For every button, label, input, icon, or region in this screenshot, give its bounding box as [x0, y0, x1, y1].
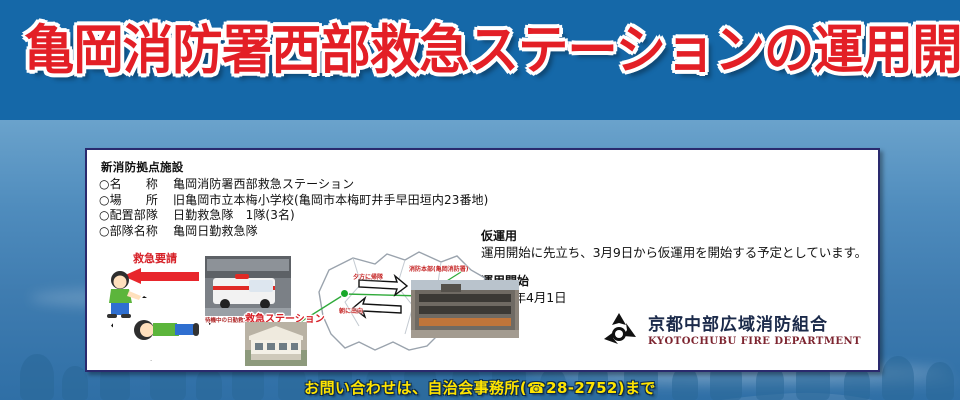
- facility-row-label: ○名 称: [99, 177, 173, 193]
- contact-banner: お問い合わせは、自治会事務所(☎28-2752)まで: [0, 374, 960, 400]
- facility-row: ○場 所旧亀岡市立本梅小学校(亀岡市本梅町井手早田垣内23番地): [99, 193, 488, 209]
- ambulance-photo: [205, 256, 291, 316]
- map-evening-label: 夕方に帰隊: [353, 272, 383, 281]
- poster-stage: 亀岡消防署西部救急ステーションの運用開始 新消防拠点施設 ○名 称亀岡消防署西部…: [0, 0, 960, 400]
- facility-info-block: 新消防拠点施設 ○名 称亀岡消防署西部救急ステーション ○場 所旧亀岡市立本梅小…: [99, 159, 488, 239]
- logo-text: 京都中部広域消防組合 KYOTOCHUBU FIRE DEPARTMENT: [648, 315, 861, 348]
- fire-department-emblem-icon: [599, 311, 639, 351]
- header-band: 亀岡消防署西部救急ステーションの運用開始: [0, 0, 960, 120]
- map-headquarters-label: 消防本部(亀岡消防署): [409, 264, 469, 273]
- emergency-request-label: 救急要請: [133, 250, 177, 266]
- provisional-heading: 仮運用: [481, 228, 873, 244]
- facility-row-value: 日勤救急隊 1隊(3名): [173, 208, 295, 222]
- map-marker-station: [341, 290, 348, 297]
- page-title: 亀岡消防署西部救急ステーションの運用開始: [24, 24, 936, 77]
- facility-row: ○名 称亀岡消防署西部救急ステーション: [99, 177, 488, 193]
- facility-row-label: ○部隊名称: [99, 224, 173, 240]
- content-card: 新消防拠点施設 ○名 称亀岡消防署西部救急ステーション ○場 所旧亀岡市立本梅小…: [85, 148, 880, 372]
- headquarters-photo: [411, 280, 519, 338]
- logo-en: KYOTOCHUBU FIRE DEPARTMENT: [648, 335, 861, 348]
- illustration-area: 救急要請: [93, 248, 593, 370]
- patient-figure-icon: [131, 314, 201, 348]
- facility-row-label: ○配置部隊: [99, 208, 173, 224]
- facility-row-value: 亀岡消防署西部救急ステーション: [173, 177, 354, 191]
- facility-heading: 新消防拠点施設: [101, 159, 488, 175]
- organization-logo: 京都中部広域消防組合 KYOTOCHUBU FIRE DEPARTMENT: [599, 311, 861, 351]
- station-building-photo: [245, 322, 307, 366]
- facility-row-value: 亀岡日勤救急隊: [173, 224, 258, 238]
- map-morning-label: 朝に出向: [339, 306, 363, 315]
- contact-text: お問い合わせは、自治会事務所(☎28-2752)まで: [304, 377, 656, 398]
- facility-row-value: 旧亀岡市立本梅小学校(亀岡市本梅町井手早田垣内23番地): [173, 193, 488, 207]
- facility-row-label: ○場 所: [99, 193, 173, 209]
- facility-row: ○配置部隊日勤救急隊 1隊(3名): [99, 208, 488, 224]
- logo-jp: 京都中部広域消防組合: [648, 315, 861, 335]
- facility-row: ○部隊名称亀岡日勤救急隊: [99, 224, 488, 240]
